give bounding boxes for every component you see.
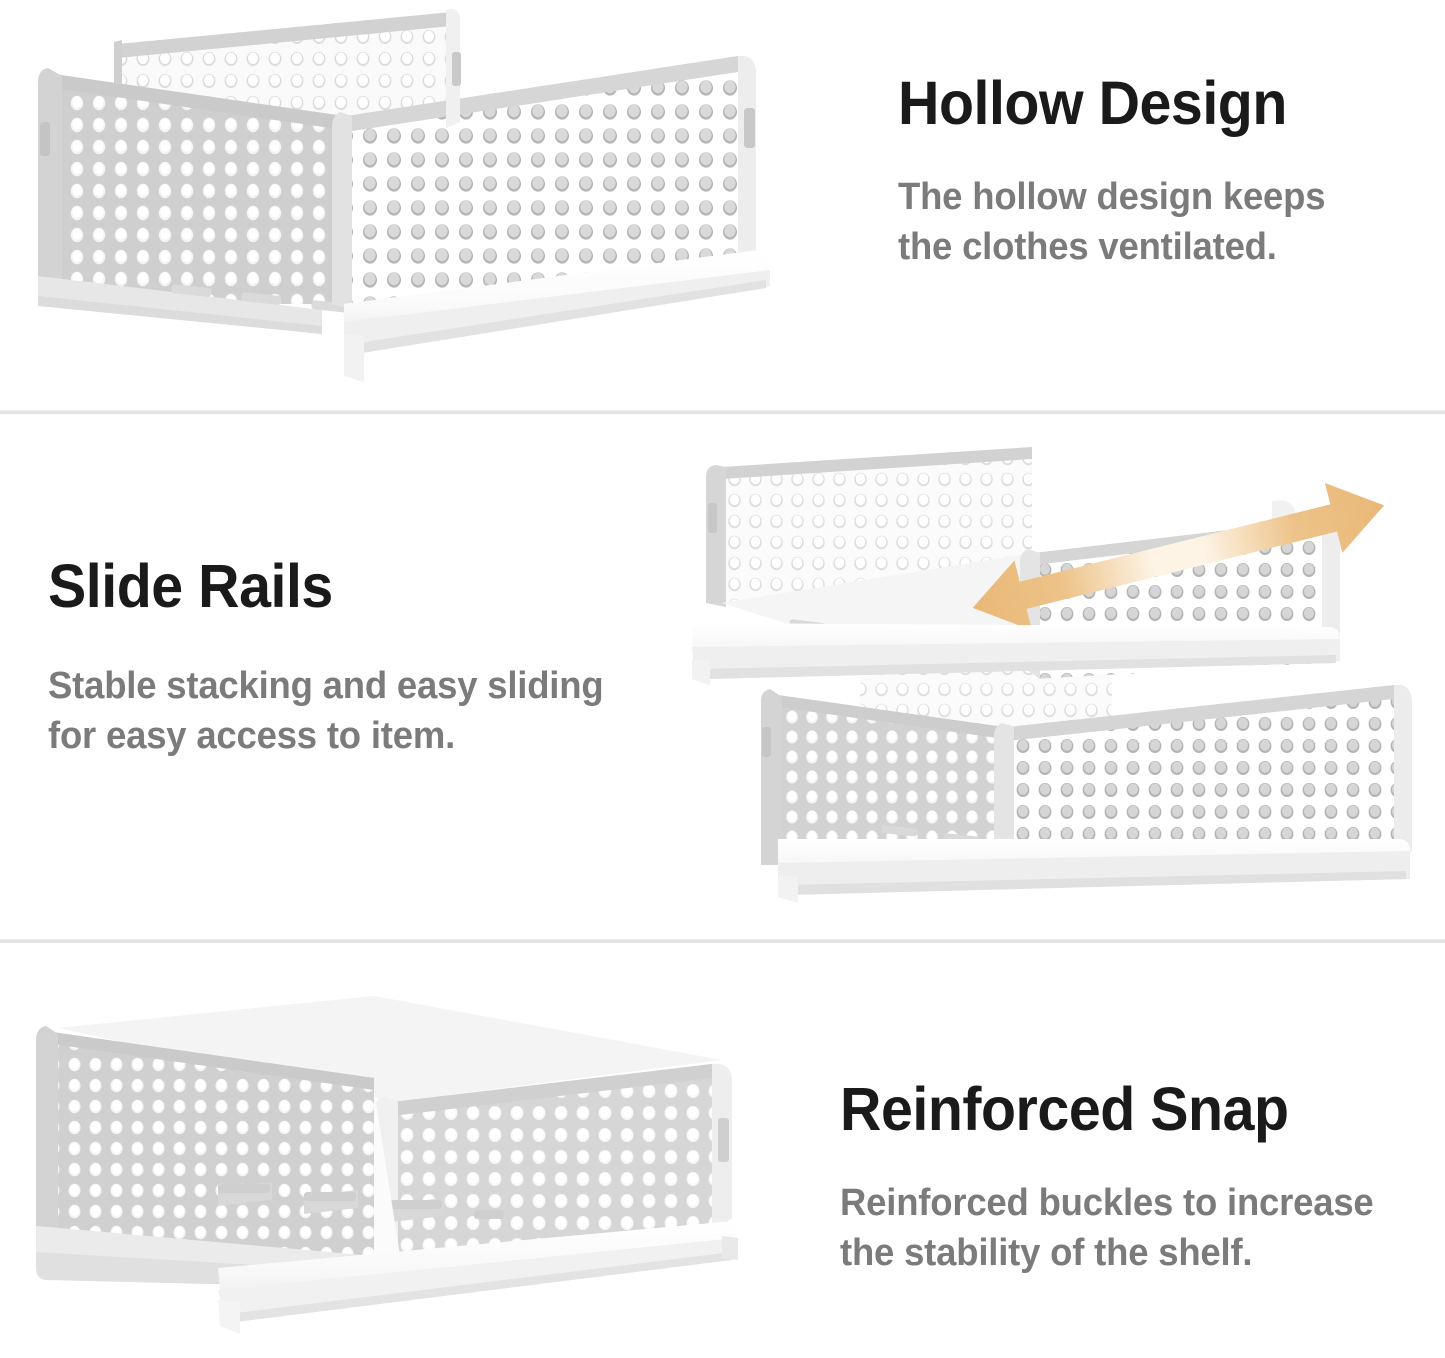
basket-illustration-1	[22, 4, 812, 404]
body-line-2: for easy access to item.	[48, 711, 603, 761]
heading-slide-rails: Slide Rails	[48, 555, 592, 617]
text-block-slide-rails: Slide Rails Stable stacking and easy sli…	[48, 555, 627, 762]
section-slide-rails: Slide Rails Stable stacking and easy sli…	[0, 413, 1445, 941]
product-image-reinforced-snap	[22, 970, 802, 1350]
basket-illustration-2	[682, 427, 1445, 917]
product-infographic: Hollow Design The hollow design keeps th…	[0, 0, 1445, 1358]
body-line-1: Stable stacking and easy sliding	[48, 661, 603, 711]
body-line-1: Reinforced buckles to increase	[840, 1178, 1374, 1228]
body-line-2: the clothes ventilated.	[898, 222, 1325, 272]
body-hollow-design: The hollow design keeps the clothes vent…	[898, 172, 1325, 272]
body-line-2: the stability of the shelf.	[840, 1228, 1374, 1278]
lower-basket	[761, 651, 1412, 903]
body-reinforced-snap: Reinforced buckles to increase the stabi…	[840, 1178, 1374, 1278]
text-block-hollow-design: Hollow Design The hollow design keeps th…	[898, 72, 1343, 273]
product-image-hollow-design	[22, 4, 812, 404]
heading-reinforced-snap: Reinforced Snap	[840, 1078, 1362, 1140]
body-line-1: The hollow design keeps	[898, 172, 1325, 222]
heading-hollow-design: Hollow Design	[898, 72, 1316, 134]
text-block-reinforced-snap: Reinforced Snap Reinforced buckles to in…	[840, 1078, 1396, 1279]
basket-illustration-3	[22, 970, 802, 1350]
section-hollow-design: Hollow Design The hollow design keeps th…	[0, 0, 1445, 412]
product-image-slide-rails	[682, 427, 1445, 917]
section-reinforced-snap: Reinforced Snap Reinforced buckles to in…	[0, 942, 1445, 1358]
body-slide-rails: Stable stacking and easy sliding for eas…	[48, 661, 603, 761]
